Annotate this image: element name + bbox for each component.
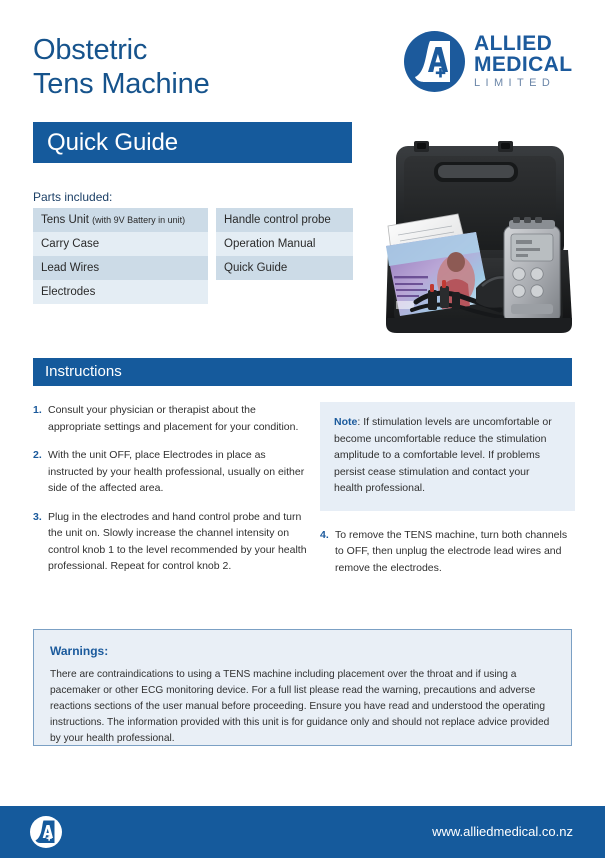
parts-row: Tens Unit (with 9V Battery in unit) [33,208,208,232]
instruction-step-text: Plug in the electrodes and hand control … [48,509,308,575]
part-label: Carry Case [41,238,99,250]
instruction-step-text: To remove the TENS machine, turn both ch… [335,527,575,577]
page-title-line-2: Tens Machine [33,67,363,101]
parts-row: Electrodes [33,280,208,304]
instruction-step-number: 2. [33,447,48,497]
quick-guide-page: Obstetric Tens Machine Quick Guide ALLIE… [0,0,605,858]
allied-medical-circle-mark-icon [30,816,62,848]
warnings-title: Warnings: [50,643,555,659]
parts-row: Handle control probe [216,208,353,232]
instructions-column-right: Note: If stimulation levels are uncomfor… [320,402,575,588]
parts-row: Operation Manual [216,232,353,256]
warnings-box: Warnings: There are contraindications to… [33,629,572,746]
header: Obstetric Tens Machine Quick Guide ALLIE… [0,0,605,330]
note-label: Note [334,416,357,428]
note-body: If stimulation levels are uncomfortable … [334,416,552,494]
product-photo [372,134,584,339]
brand-logo-line-medical: MEDICAL [474,54,572,76]
part-label: Tens Unit [41,214,89,226]
brand-logo-line-allied: ALLIED [474,33,572,54]
warnings-body: There are contraindications to using a T… [50,667,555,747]
page-title-line-1: Obstetric [33,33,363,67]
brand-logo-line-limited: LIMITED [474,76,572,90]
parts-row: Quick Guide [216,256,353,280]
quick-guide-banner-label: Quick Guide [47,129,178,157]
parts-included-heading: Parts included: [33,190,112,204]
parts-row: Lead Wires [33,256,208,280]
part-label: Operation Manual [224,238,315,250]
footer: www.alliedmedical.co.nz [0,806,605,858]
part-note: (with 9V Battery in unit) [92,215,185,225]
page-title: Obstetric Tens Machine [33,33,363,101]
note-callout: Note: If stimulation levels are uncomfor… [320,402,575,511]
footer-website-url[interactable]: www.alliedmedical.co.nz [432,823,573,840]
allied-medical-a-plus-mark-icon [404,31,465,92]
parts-column-left: Tens Unit (with 9V Battery in unit) Carr… [33,208,208,304]
brand-logo: ALLIED MEDICAL LIMITED [404,31,576,93]
parts-row: Carry Case [33,232,208,256]
part-label: Quick Guide [224,262,287,274]
part-label: Electrodes [41,286,95,298]
instructions-column-left: 1. Consult your physician or therapist a… [33,402,308,587]
instruction-step-number: 3. [33,509,48,575]
brand-logo-wordmark: ALLIED MEDICAL LIMITED [474,33,572,90]
instruction-step-text: Consult your physician or therapist abou… [48,402,308,435]
instruction-step: 3. Plug in the electrodes and hand contr… [33,509,308,575]
note-callout-text: Note: If stimulation levels are uncomfor… [334,414,561,497]
parts-column-right: Handle control probe Operation Manual Qu… [216,208,353,280]
instructions-banner-label: Instructions [45,363,122,381]
part-label: Handle control probe [224,214,331,226]
instruction-step-number: 4. [320,527,335,577]
quick-guide-banner: Quick Guide [33,122,352,163]
instruction-step: 1. Consult your physician or therapist a… [33,402,308,435]
instruction-step: 4. To remove the TENS machine, turn both… [320,527,575,577]
instruction-step: 2. With the unit OFF, place Electrodes i… [33,447,308,497]
instructions-banner: Instructions [33,358,572,386]
instruction-step-text: With the unit OFF, place Electrodes in p… [48,447,308,497]
instruction-step-number: 1. [33,402,48,435]
part-label: Lead Wires [41,262,99,274]
